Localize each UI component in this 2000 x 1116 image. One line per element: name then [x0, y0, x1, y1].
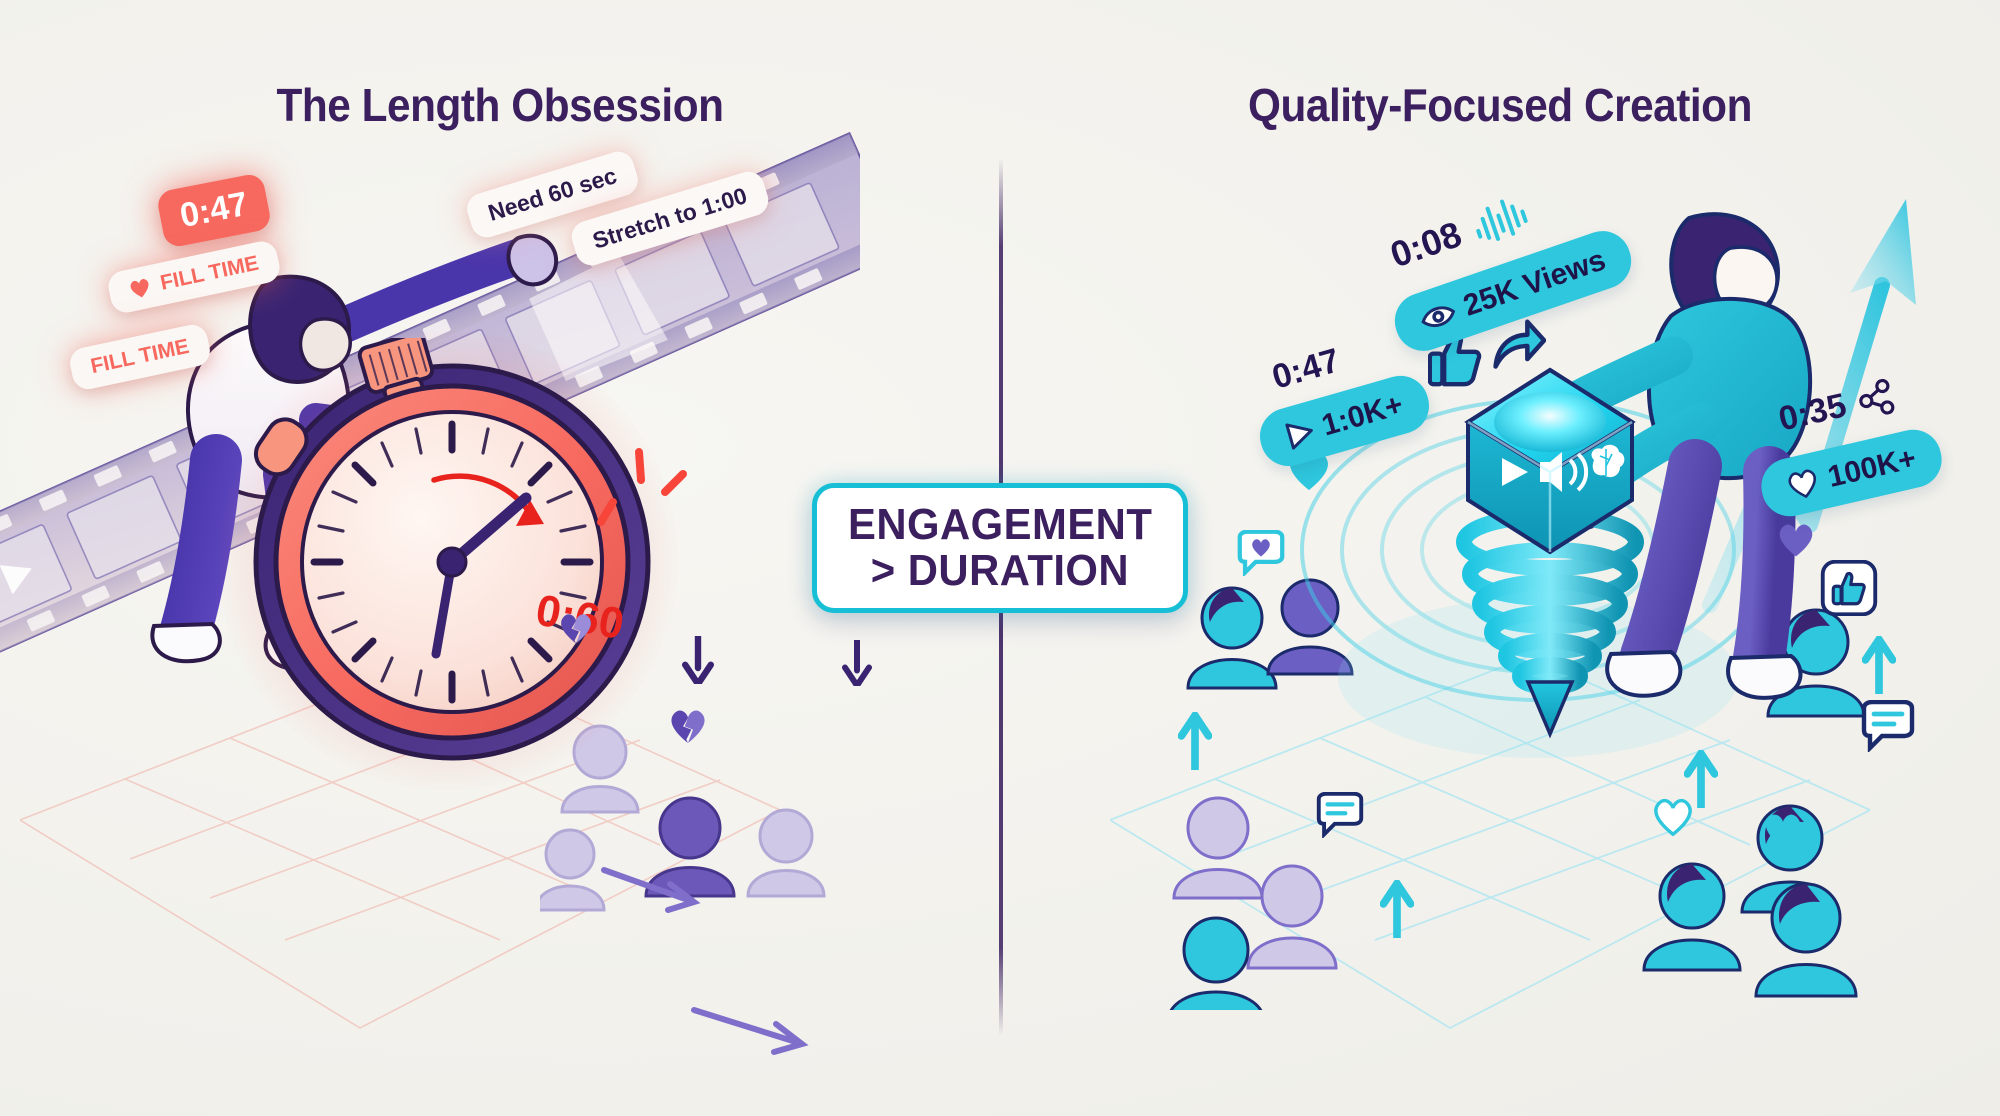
heart-icon-right-2	[1776, 522, 1816, 558]
broken-heart-icon	[668, 708, 708, 748]
heart-chat-bubble-icon	[1236, 530, 1286, 576]
impact-burst-lines	[595, 430, 705, 540]
center-callout-badge[interactable]: ENGAGEMENT > DURATION	[812, 483, 1188, 613]
heart-outline-icon	[1785, 467, 1822, 501]
center-callout-line2: > DURATION	[871, 549, 1129, 593]
thumbs-up-icon-2	[1820, 560, 1878, 616]
comment-icon-1	[1314, 792, 1366, 838]
infographic-canvas: The Length Obsession Quality-Focused Cre…	[0, 0, 2000, 1116]
down-arrow-icon-2	[842, 640, 872, 686]
stopwatch: 0:60	[238, 338, 668, 768]
down-arrow-icon	[682, 636, 714, 684]
heart-icon-right-4	[1762, 812, 1804, 850]
up-arrow-icon-2	[1684, 750, 1718, 808]
eye-icon	[1417, 299, 1460, 335]
up-arrow-icon-3	[1380, 880, 1414, 938]
badge-likes-100k-label: 100K+	[1825, 442, 1920, 495]
center-callout-line1: ENGAGEMENT	[848, 503, 1152, 547]
waveform-icon	[1467, 191, 1535, 248]
up-arrow-icon-1	[1178, 712, 1212, 770]
badge-plays-1-0k-label: 1:0K+	[1318, 388, 1407, 443]
play-icon	[1282, 415, 1317, 452]
badge-timer-0-08-label: 0:08	[1385, 213, 1467, 276]
badge-timer-0-47-label: 0:47	[177, 185, 251, 236]
decline-arrow-icon	[690, 1000, 820, 1060]
comment-icon-2	[1858, 700, 1918, 752]
decline-arrow-icon-2	[600, 862, 710, 922]
right-panel-title: Quality-Focused Creation	[1040, 78, 1960, 132]
heart-icon	[127, 276, 153, 300]
up-arrow-icon-4	[1862, 636, 1896, 694]
broken-heart-icon-2	[558, 612, 594, 648]
engagement-crystal	[1380, 330, 1720, 750]
